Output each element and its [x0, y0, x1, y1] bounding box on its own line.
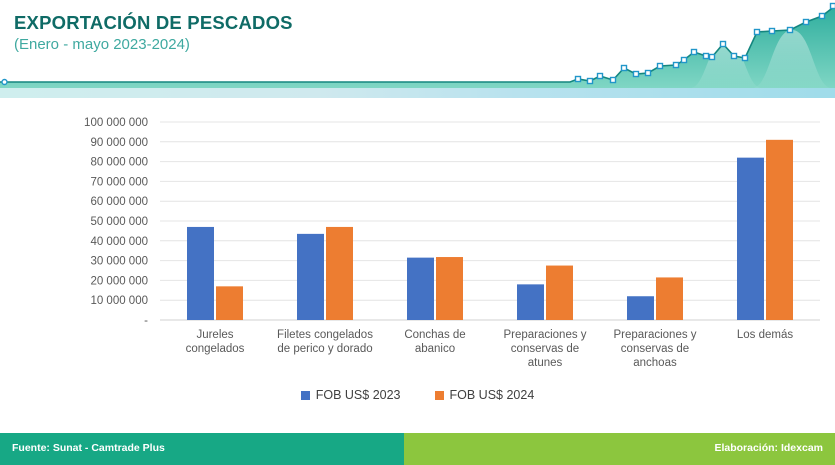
x-axis-tick-label: Preparaciones y: [503, 329, 586, 341]
legend-swatch-2023: [301, 391, 310, 400]
bar[interactable]: [627, 296, 654, 320]
x-axis-tick-label: congelados: [186, 343, 245, 355]
gridlines: [160, 122, 820, 320]
bar[interactable]: [517, 284, 544, 320]
legend-item-2023[interactable]: FOB US$ 2023: [301, 388, 401, 402]
chart-legend: FOB US$ 2023 FOB US$ 2024: [0, 388, 835, 402]
x-axis-tick-label: Jureles: [196, 329, 233, 341]
bar[interactable]: [297, 234, 324, 320]
x-axis-tick-label: de perico y dorado: [277, 343, 372, 355]
x-axis-tick-label: conservas de: [621, 343, 689, 355]
legend-label-2024: FOB US$ 2024: [450, 388, 535, 402]
bar[interactable]: [766, 140, 793, 320]
y-axis-tick-label: 50 000 000: [90, 216, 148, 228]
legend-item-2024[interactable]: FOB US$ 2024: [435, 388, 535, 402]
y-axis-labels: 100 000 00090 000 00080 000 00070 000 00…: [84, 117, 148, 327]
x-axis-tick-label: conservas de: [511, 343, 579, 355]
x-axis-labels: JurelescongeladosFiletes congeladosde pe…: [186, 329, 794, 369]
page-footer: Fuente: Sunat - Camtrade Plus Elaboració…: [0, 433, 835, 465]
bars: [187, 140, 793, 320]
bar[interactable]: [656, 277, 683, 320]
page-title: EXPORTACIÓN DE PESCADOS: [14, 12, 293, 33]
y-axis-tick-label: 20 000 000: [90, 275, 148, 287]
x-axis-tick-label: atunes: [528, 357, 563, 369]
y-axis-tick-label: 60 000 000: [90, 196, 148, 208]
x-axis-tick-label: abanico: [415, 343, 455, 355]
bar[interactable]: [407, 258, 434, 320]
y-axis-tick-label: 30 000 000: [90, 256, 148, 268]
page-header: EXPORTACIÓN DE PESCADOS (Enero - mayo 20…: [0, 0, 835, 98]
bar[interactable]: [737, 158, 764, 320]
x-axis-tick-label: Los demás: [737, 329, 794, 341]
y-axis-tick-label: 70 000 000: [90, 176, 148, 188]
footer-elaboration-label: Elaboración: Idexcam: [714, 442, 823, 454]
bar[interactable]: [546, 266, 573, 320]
x-axis-tick-label: Filetes congelados: [277, 329, 373, 341]
y-axis-tick-label: 40 000 000: [90, 236, 148, 248]
chart-canvas: 100 000 00090 000 00080 000 00070 000 00…: [0, 98, 835, 425]
legend-label-2023: FOB US$ 2023: [316, 388, 401, 402]
header-base-strip: [0, 88, 835, 98]
y-axis-tick-label: 90 000 000: [90, 137, 148, 149]
header-text-block: EXPORTACIÓN DE PESCADOS (Enero - mayo 20…: [14, 12, 293, 54]
footer-source-label: Fuente: Sunat - Camtrade Plus: [12, 442, 165, 454]
bar[interactable]: [216, 286, 243, 320]
legend-swatch-2024: [435, 391, 444, 400]
x-axis-tick-label: Conchas de: [404, 329, 465, 341]
y-axis-tick-label: 10 000 000: [90, 295, 148, 307]
x-axis-tick-label: Preparaciones y: [613, 329, 696, 341]
y-axis-tick-label: 100 000 000: [84, 117, 148, 129]
bar[interactable]: [436, 257, 463, 320]
bar-chart: 100 000 00090 000 00080 000 00070 000 00…: [0, 98, 835, 425]
x-axis-tick-label: anchoas: [633, 357, 677, 369]
page-subtitle: (Enero - mayo 2023-2024): [14, 36, 293, 54]
bar[interactable]: [187, 227, 214, 320]
bar[interactable]: [326, 227, 353, 320]
y-axis-tick-label: -: [144, 315, 148, 327]
y-axis-tick-label: 80 000 000: [90, 157, 148, 169]
